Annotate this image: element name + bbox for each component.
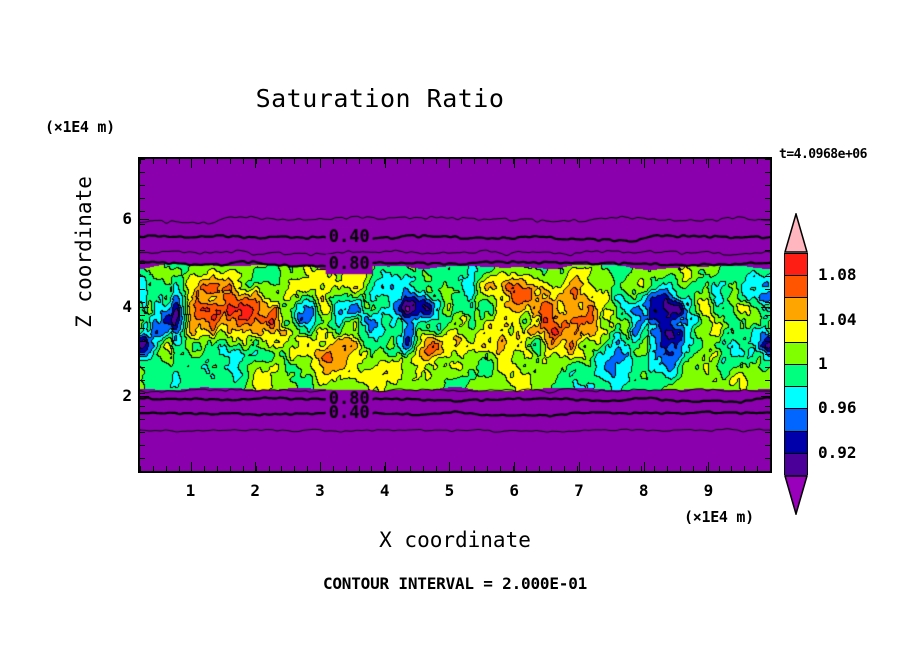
- axis-tick: [744, 466, 745, 471]
- axis-tick: [166, 466, 167, 471]
- axis-tick: [449, 462, 450, 471]
- axis-tick: [765, 354, 770, 355]
- axis-tick: [140, 263, 145, 264]
- axis-tick: [641, 466, 642, 471]
- axis-tick: [333, 466, 334, 471]
- axis-tick: [385, 159, 386, 168]
- axis-tick: [706, 159, 707, 164]
- axis-tick: [320, 462, 321, 471]
- colorbar-band: [785, 321, 807, 343]
- axis-tick: [320, 159, 321, 168]
- axis-tick: [140, 224, 145, 225]
- y-axis-title: Z coordinate: [72, 162, 96, 342]
- axis-tick: [449, 159, 450, 168]
- axis-tick: [765, 211, 770, 212]
- axis-tick: [140, 159, 145, 160]
- axis-tick: [191, 159, 192, 168]
- axis-tick: [590, 159, 591, 164]
- axis-tick: [307, 159, 308, 164]
- axis-tick: [765, 289, 770, 290]
- axis-tick: [140, 328, 145, 329]
- x-tick-label: 6: [494, 481, 534, 500]
- y-axis-unit-label: (×1E4 m): [45, 118, 115, 136]
- axis-tick: [680, 466, 681, 471]
- axis-tick: [577, 466, 578, 471]
- axis-tick: [579, 462, 580, 471]
- axis-tick: [644, 159, 645, 168]
- y-tick-label: 4: [92, 297, 132, 316]
- axis-tick: [765, 341, 770, 342]
- axis-tick: [761, 219, 770, 220]
- axis-tick: [706, 466, 707, 471]
- axis-tick: [765, 302, 770, 303]
- axis-tick: [765, 393, 770, 394]
- axis-tick: [770, 159, 771, 164]
- axis-tick: [423, 159, 424, 164]
- colorbar-band: [785, 454, 807, 476]
- axis-tick: [204, 466, 205, 471]
- axis-tick: [243, 466, 244, 471]
- axis-tick: [230, 466, 231, 471]
- axis-tick: [461, 159, 462, 164]
- axis-tick: [255, 159, 256, 168]
- axis-tick: [140, 237, 145, 238]
- axis-tick: [140, 289, 145, 290]
- axis-tick: [140, 250, 145, 251]
- axis-tick: [179, 159, 180, 164]
- axis-tick: [731, 159, 732, 164]
- axis-tick: [526, 466, 527, 471]
- axis-tick: [500, 466, 501, 471]
- axis-tick: [140, 432, 145, 433]
- axis-tick: [487, 466, 488, 471]
- colorbar-tick-label: 1.04: [818, 310, 857, 329]
- axis-tick: [708, 159, 709, 168]
- axis-tick: [371, 159, 372, 164]
- axis-tick: [140, 276, 145, 277]
- axis-tick: [153, 159, 154, 164]
- x-tick-label: 9: [688, 481, 728, 500]
- axis-tick: [474, 466, 475, 471]
- x-tick-label: 2: [235, 481, 275, 500]
- axis-tick: [765, 172, 770, 173]
- axis-tick: [140, 445, 145, 446]
- colorbar-top-arrow-icon: [784, 213, 808, 253]
- y-tick-label: 2: [92, 386, 132, 405]
- figure-root: Saturation Ratio (×1E4 m) t=4.0968e+06 1…: [0, 0, 904, 654]
- axis-tick: [294, 159, 295, 164]
- x-tick-label: 1: [171, 481, 211, 500]
- axis-tick: [629, 466, 630, 471]
- axis-tick: [140, 315, 145, 316]
- axis-tick: [765, 263, 770, 264]
- axis-tick: [765, 198, 770, 199]
- colorbar-band: [785, 298, 807, 320]
- axis-tick: [140, 419, 145, 420]
- axis-tick: [256, 466, 257, 471]
- axis-tick: [140, 396, 149, 397]
- axis-tick: [140, 219, 149, 220]
- axis-tick: [359, 159, 360, 164]
- axis-tick: [500, 159, 501, 164]
- page-title: Saturation Ratio: [0, 84, 760, 113]
- axis-tick: [166, 159, 167, 164]
- x-tick-label: 5: [429, 481, 469, 500]
- axis-tick: [579, 159, 580, 168]
- saturation-ratio-field: [140, 159, 770, 471]
- colorbar-tick-label: 0.92: [818, 443, 857, 462]
- axis-tick: [526, 159, 527, 164]
- axis-tick: [719, 159, 720, 164]
- axis-tick: [765, 406, 770, 407]
- axis-tick: [765, 315, 770, 316]
- axis-tick: [765, 224, 770, 225]
- axis-tick: [140, 341, 145, 342]
- axis-tick: [770, 466, 771, 471]
- axis-tick: [397, 159, 398, 164]
- axis-tick: [539, 466, 540, 471]
- axis-tick: [708, 462, 709, 471]
- colorbar-band: [785, 409, 807, 431]
- colorbar-tick-label: 1.08: [818, 265, 857, 284]
- axis-tick: [346, 466, 347, 471]
- axis-tick: [757, 466, 758, 471]
- axis-tick: [757, 159, 758, 164]
- x-tick-label: 3: [300, 481, 340, 500]
- axis-tick: [140, 393, 145, 394]
- axis-tick: [359, 466, 360, 471]
- axis-tick: [644, 462, 645, 471]
- axis-tick: [140, 211, 145, 212]
- axis-tick: [590, 466, 591, 471]
- axis-tick: [719, 466, 720, 471]
- axis-tick: [153, 466, 154, 471]
- axis-tick: [269, 466, 270, 471]
- axis-tick: [765, 458, 770, 459]
- axis-tick: [667, 159, 668, 164]
- time-annotation: t=4.0968e+06: [779, 147, 867, 162]
- axis-tick: [281, 466, 282, 471]
- axis-tick: [765, 432, 770, 433]
- axis-tick: [255, 462, 256, 471]
- axis-tick: [539, 159, 540, 164]
- axis-tick: [603, 159, 604, 164]
- colorbar-bands: [784, 253, 808, 475]
- axis-tick: [371, 466, 372, 471]
- axis-tick: [281, 159, 282, 164]
- axis-tick: [603, 466, 604, 471]
- axis-tick: [294, 466, 295, 471]
- axis-tick: [217, 159, 218, 164]
- axis-tick: [410, 466, 411, 471]
- contour-plot-area: [138, 157, 772, 473]
- axis-tick: [564, 159, 565, 164]
- colorbar: 1.081.0410.960.92: [784, 213, 808, 515]
- axis-tick: [765, 380, 770, 381]
- axis-tick: [616, 159, 617, 164]
- axis-tick: [765, 185, 770, 186]
- axis-tick: [140, 471, 145, 472]
- axis-tick: [140, 172, 145, 173]
- axis-tick: [514, 159, 515, 168]
- axis-tick: [474, 159, 475, 164]
- x-axis-title: X coordinate: [138, 528, 772, 552]
- axis-tick: [140, 307, 149, 308]
- axis-tick: [436, 466, 437, 471]
- axis-tick: [140, 380, 145, 381]
- axis-tick: [256, 159, 257, 164]
- axis-tick: [761, 396, 770, 397]
- contour-interval-note: CONTOUR INTERVAL = 2.000E-01: [138, 574, 772, 593]
- colorbar-band: [785, 432, 807, 454]
- axis-tick: [731, 466, 732, 471]
- axis-tick: [423, 466, 424, 471]
- axis-tick: [654, 466, 655, 471]
- axis-tick: [140, 406, 145, 407]
- axis-tick: [577, 159, 578, 164]
- axis-tick: [765, 445, 770, 446]
- axis-tick: [765, 276, 770, 277]
- axis-tick: [436, 159, 437, 164]
- x-tick-label: 7: [559, 481, 599, 500]
- axis-tick: [761, 307, 770, 308]
- axis-tick: [191, 462, 192, 471]
- y-tick-label: 6: [92, 209, 132, 228]
- axis-tick: [217, 466, 218, 471]
- axis-tick: [514, 462, 515, 471]
- axis-tick: [204, 159, 205, 164]
- colorbar-band: [785, 365, 807, 387]
- axis-tick: [765, 237, 770, 238]
- axis-tick: [765, 328, 770, 329]
- axis-tick: [680, 159, 681, 164]
- axis-tick: [140, 354, 145, 355]
- axis-tick: [140, 458, 145, 459]
- x-tick-label: 8: [624, 481, 664, 500]
- axis-tick: [140, 198, 145, 199]
- axis-tick: [269, 159, 270, 164]
- axis-tick: [397, 466, 398, 471]
- colorbar-tick-label: 1: [818, 354, 828, 373]
- axis-tick: [765, 250, 770, 251]
- axis-tick: [140, 367, 145, 368]
- colorbar-band: [785, 343, 807, 365]
- axis-tick: [551, 159, 552, 164]
- x-tick-label: 4: [365, 481, 405, 500]
- axis-tick: [410, 159, 411, 164]
- axis-tick: [616, 466, 617, 471]
- colorbar-band: [785, 387, 807, 409]
- axis-tick: [230, 159, 231, 164]
- axis-tick: [551, 466, 552, 471]
- axis-tick: [629, 159, 630, 164]
- axis-tick: [333, 159, 334, 164]
- axis-tick: [243, 159, 244, 164]
- axis-tick: [461, 466, 462, 471]
- axis-tick: [564, 466, 565, 471]
- axis-tick: [765, 159, 770, 160]
- colorbar-band: [785, 254, 807, 276]
- axis-tick: [765, 471, 770, 472]
- axis-tick: [654, 159, 655, 164]
- x-axis-unit-label: (×1E4 m): [684, 508, 754, 526]
- axis-tick: [140, 302, 145, 303]
- axis-tick: [693, 159, 694, 164]
- colorbar-bottom-arrow-icon: [784, 475, 808, 515]
- colorbar-band: [785, 276, 807, 298]
- axis-tick: [179, 466, 180, 471]
- axis-tick: [385, 462, 386, 471]
- axis-tick: [693, 466, 694, 471]
- axis-tick: [667, 466, 668, 471]
- axis-tick: [346, 159, 347, 164]
- axis-tick: [307, 466, 308, 471]
- axis-tick: [744, 159, 745, 164]
- axis-tick: [765, 367, 770, 368]
- axis-tick: [765, 419, 770, 420]
- axis-tick: [487, 159, 488, 164]
- colorbar-tick-label: 0.96: [818, 398, 857, 417]
- axis-tick: [641, 159, 642, 164]
- axis-tick: [140, 185, 145, 186]
